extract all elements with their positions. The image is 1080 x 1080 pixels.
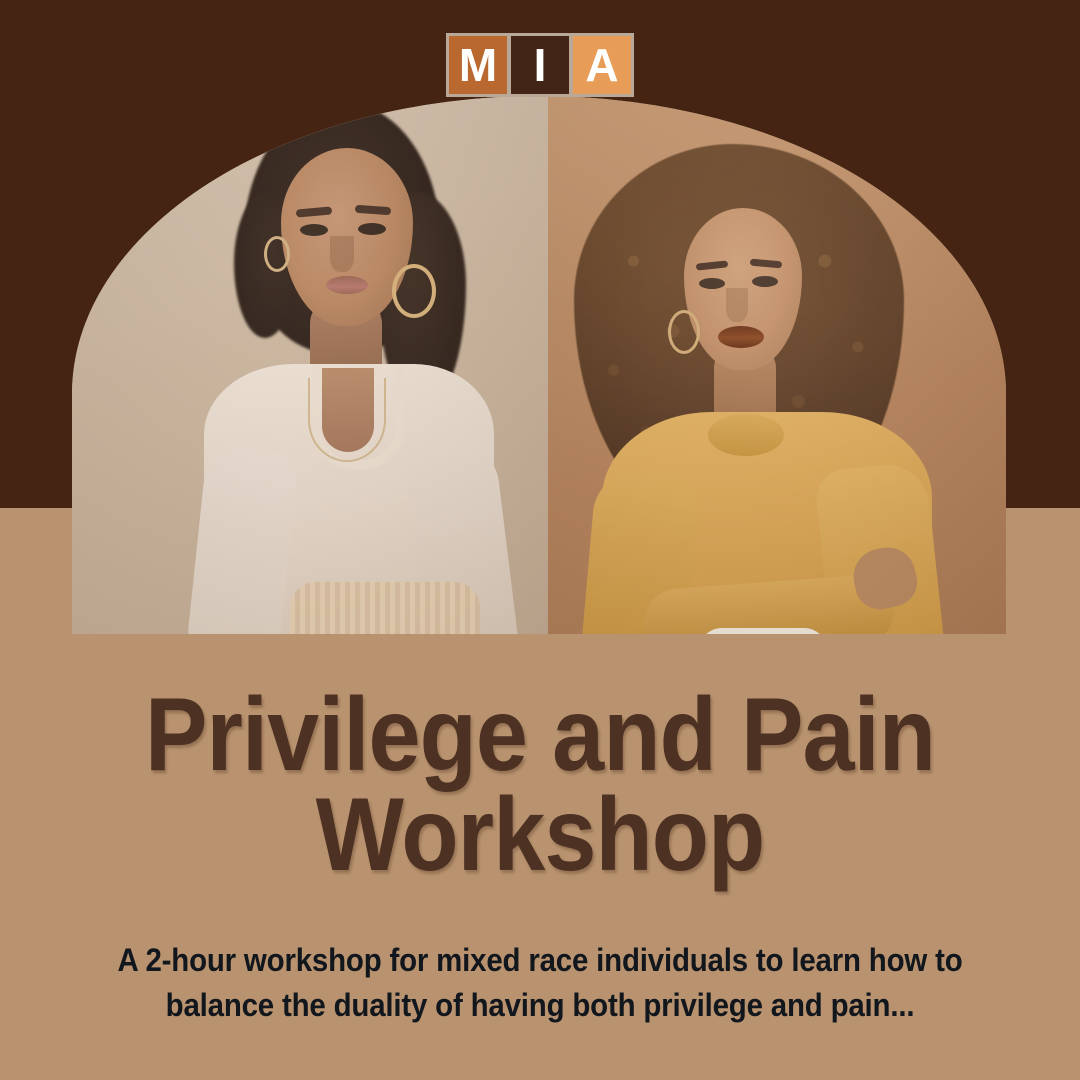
logo-tile-m: M — [449, 36, 507, 94]
headline-line-1: Privilege and Pain — [54, 686, 1026, 786]
logo-tile-a: A — [573, 36, 631, 94]
arch-photo-frame — [72, 96, 1006, 634]
eye-right — [752, 276, 778, 287]
headline-line-2: Workshop — [54, 786, 1026, 886]
portrait-left — [72, 96, 548, 634]
inner-top-shape — [698, 628, 828, 634]
portrait-right — [548, 96, 1006, 634]
description-text: A 2-hour workshop for mixed race individ… — [80, 938, 1000, 1028]
eye-right — [358, 223, 386, 235]
headline: Privilege and Pain Workshop — [54, 686, 1026, 886]
mia-logo[interactable]: M I A — [447, 34, 633, 96]
lips-shape — [326, 276, 368, 294]
hoop-earring — [668, 310, 700, 354]
eye-left — [699, 278, 725, 289]
necklace-shape — [308, 378, 386, 462]
hoop-earring-right — [392, 264, 436, 318]
nose-shape — [330, 236, 354, 272]
eye-left — [300, 224, 328, 236]
hoop-earring-left — [264, 236, 290, 272]
sleeve-left — [185, 444, 299, 634]
nose-shape — [726, 288, 748, 322]
lips-shape — [718, 326, 764, 348]
poster-canvas: M I A Privilege and Pain Workshop A 2-ho… — [0, 0, 1080, 1080]
logo-tile-i: I — [511, 36, 569, 94]
collar-shape — [708, 414, 784, 456]
skirt-shape — [290, 582, 480, 634]
